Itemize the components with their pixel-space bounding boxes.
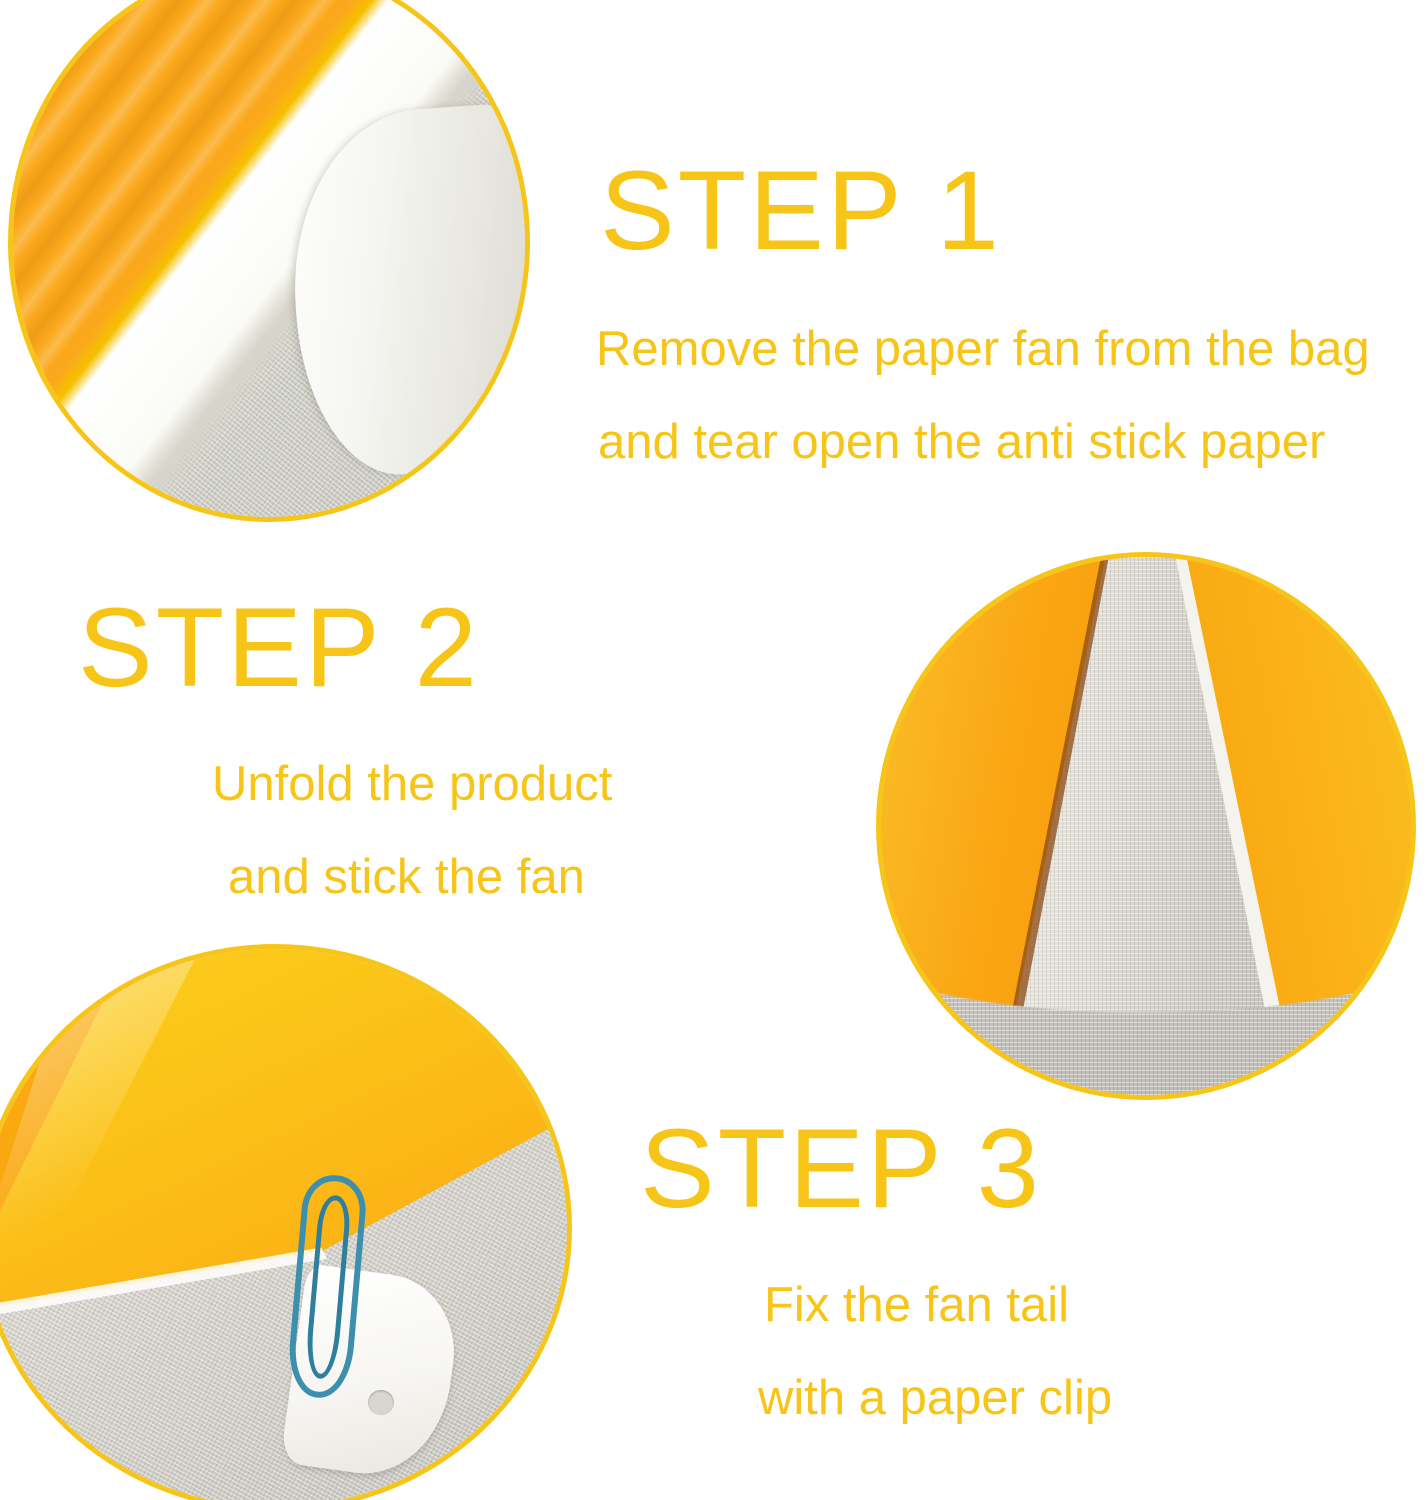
step-3-description-line-2: with a paper clip [758,1374,1112,1423]
step-1-text-block: STEP 1 Remove the paper fan from the bag… [596,155,1370,467]
step-1-description-line-1: Remove the paper fan from the bag [596,325,1370,374]
photo-fan-tail-paper-clip [0,944,572,1500]
backing-floor [881,977,1411,1095]
step-2-description-line-2: and stick the fan [228,853,612,902]
step-2-text-block: STEP 2 Unfold the product and stick the … [78,592,612,902]
step-1-description-line-2: and tear open the anti stick paper [598,418,1370,467]
photo-unfolded-fan-cone [876,552,1416,1100]
instruction-poster: STEP 1 Remove the paper fan from the bag… [0,0,1427,1500]
step-2-title: STEP 2 [78,592,612,704]
photo-step3-inner [0,949,567,1500]
photo-step1-inner [13,0,525,517]
step-3-text-block: STEP 3 Fix the fan tail with a paper cli… [640,1113,1112,1423]
step-2-description-line-1: Unfold the product [212,760,612,809]
step-3-title: STEP 3 [640,1113,1112,1225]
step-3-description-line-1: Fix the fan tail [764,1281,1112,1330]
photo-pleated-fan-adhesive-strip [8,0,530,522]
photo-step2-inner [881,557,1411,1095]
step-1-title: STEP 1 [600,155,1370,267]
